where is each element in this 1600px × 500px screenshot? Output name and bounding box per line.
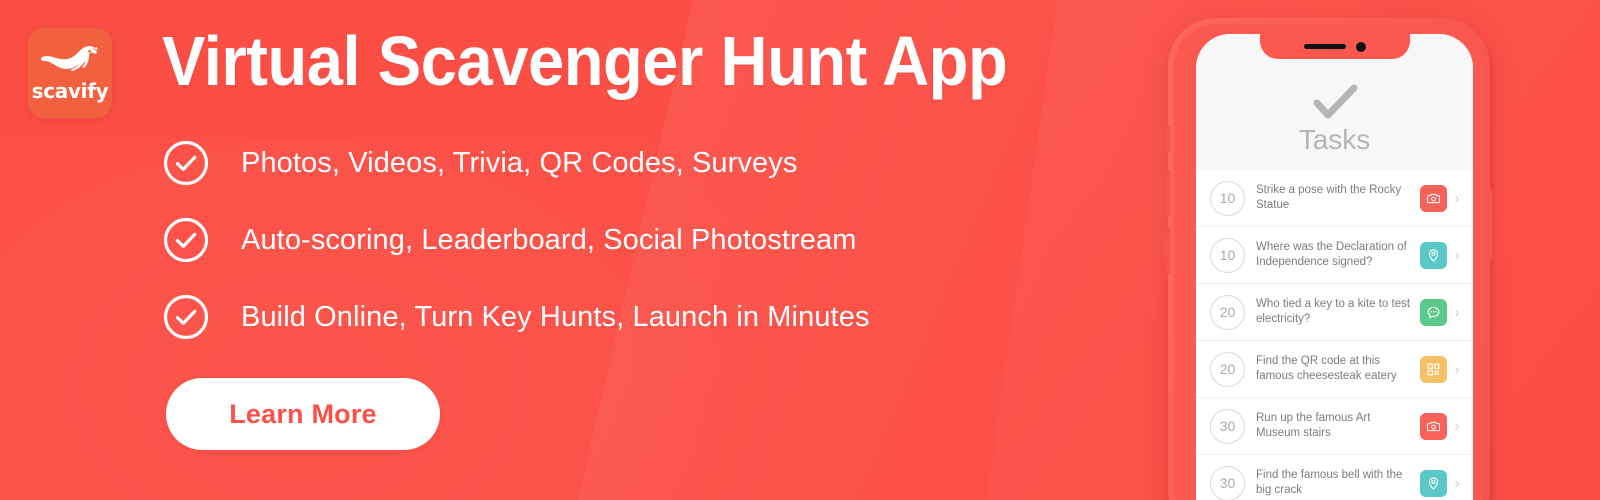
camera-icon [1420,185,1447,212]
page-title: Virtual Scavenger Hunt App [162,26,1007,96]
checkmark-icon [1309,82,1361,122]
task-row[interactable]: 20 Find the QR code at this famous chees… [1196,341,1473,398]
location-pin-icon [1420,470,1447,497]
task-label: Strike a pose with the Rocky Statue [1256,183,1412,212]
task-points: 30 [1210,409,1245,444]
phone-frame: Tasks 10 Strike a pose with the Rocky St… [1168,18,1490,500]
camera-icon [1420,413,1447,440]
chevron-right-icon: › [1449,418,1465,435]
list-item: Auto-scoring, Leaderboard, Social Photos… [163,216,870,264]
task-list: 10 Strike a pose with the Rocky Statue ›… [1196,170,1473,500]
task-label: Find the QR code at this famous cheesest… [1256,354,1412,383]
logo-wordmark: scavify [32,79,109,103]
chevron-right-icon: › [1449,361,1465,378]
task-label: Run up the famous Art Museum stairs [1256,411,1412,440]
task-row[interactable]: 30 Run up the famous Art Museum stairs › [1196,398,1473,455]
silent-switch[interactable] [1165,126,1170,152]
feature-label: Photos, Videos, Trivia, QR Codes, Survey… [241,147,797,180]
power-button[interactable] [1488,190,1493,260]
scavify-logo[interactable]: scavify [28,28,112,118]
task-points: 10 [1210,238,1245,273]
task-row[interactable]: 20 Who tied a key to a kite to test elec… [1196,284,1473,341]
chevron-right-icon: › [1449,190,1465,207]
list-item: Photos, Videos, Trivia, QR Codes, Survey… [163,139,870,187]
qr-code-icon [1420,356,1447,383]
feature-list: Photos, Videos, Trivia, QR Codes, Survey… [163,139,870,341]
list-item: Build Online, Turn Key Hunts, Launch in … [163,293,870,341]
volume-up-button[interactable] [1165,170,1170,216]
promo-banner: scavify Virtual Scavenger Hunt App Photo… [0,0,1600,500]
task-label: Where was the Declaration of Independenc… [1256,240,1412,269]
chevron-right-icon: › [1449,247,1465,264]
check-circle-icon [163,217,209,263]
screen-title: Tasks [1299,124,1371,156]
check-circle-icon [163,294,209,340]
task-row[interactable]: 10 Strike a pose with the Rocky Statue › [1196,170,1473,227]
location-pin-icon [1420,242,1447,269]
task-row[interactable]: 30 Find the famous bell with the big cra… [1196,455,1473,500]
learn-more-button[interactable]: Learn More [166,378,440,450]
phone-notch [1260,34,1410,59]
phone-mockup: Tasks 10 Strike a pose with the Rocky St… [1168,18,1494,500]
feature-label: Build Online, Turn Key Hunts, Launch in … [241,301,870,334]
task-points: 20 [1210,352,1245,387]
front-camera-icon [1356,42,1366,52]
chevron-right-icon: › [1449,475,1465,492]
phone-screen: Tasks 10 Strike a pose with the Rocky St… [1196,34,1473,500]
task-row[interactable]: 10 Where was the Declaration of Independ… [1196,227,1473,284]
task-label: Who tied a key to a kite to test electri… [1256,297,1412,326]
chat-bubble-icon [1420,299,1447,326]
task-label: Find the famous bell with the big crack [1256,468,1412,497]
squirrel-mark [41,44,99,78]
speaker-grille-icon [1304,44,1346,49]
feature-label: Auto-scoring, Leaderboard, Social Photos… [241,224,856,257]
task-points: 10 [1210,181,1245,216]
check-circle-icon [163,140,209,186]
chevron-right-icon: › [1449,304,1465,321]
task-points: 20 [1210,295,1245,330]
task-points: 30 [1210,466,1245,500]
volume-down-button[interactable] [1165,228,1170,274]
